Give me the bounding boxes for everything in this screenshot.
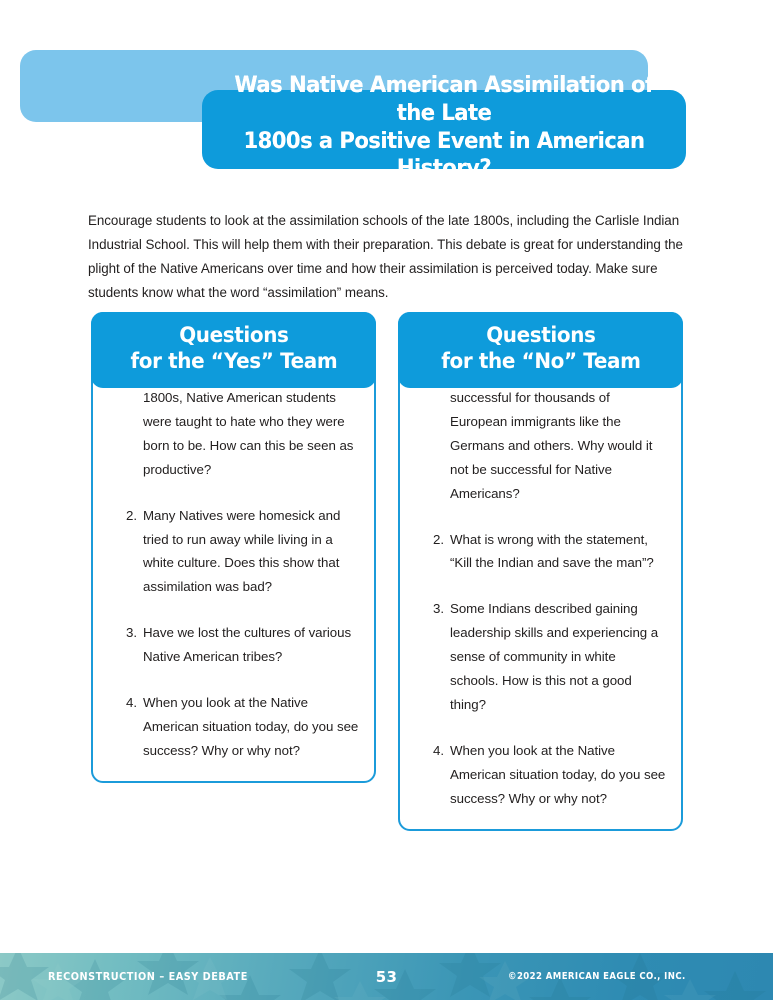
card-yes-team: 1. In assimilation schools of the late 1… [91,312,376,831]
question-number: 4. [113,691,137,715]
question-text: When you look at the Native American sit… [450,743,665,806]
intro-paragraph: Encourage students to look at the assimi… [88,209,688,305]
list-item: 3. Some Indians described gaining leader… [408,597,667,717]
page-title-line-2: 1800s a Positive Event in American Histo… [243,128,644,182]
card-yes-title-line-2: for the “Yes” Team [130,349,337,373]
question-cards-container: 1. In assimilation schools of the late 1… [91,312,683,831]
list-item: 2. What is wrong with the statement, “Ki… [408,528,667,576]
question-number: 2. [113,504,137,528]
list-item: 4. When you look at the Native American … [408,739,667,811]
card-no-team-body: 1. Assimilation seemed to be successful … [398,312,683,831]
worksheet-page: Was Native American Assimilation of the … [0,0,773,1000]
card-no-team: 1. Assimilation seemed to be successful … [398,312,683,831]
question-number: 3. [113,621,137,645]
page-title-line-1: Was Native American Assimilation of the … [234,72,653,126]
question-number: 4. [420,739,444,763]
question-text: Have we lost the cultures of various Nat… [143,625,351,664]
card-yes-title-line-1: Questions [179,323,288,347]
page-header: Was Native American Assimilation of the … [0,0,773,190]
list-item: 3. Have we lost the cultures of various … [101,621,360,669]
header-title-banner: Was Native American Assimilation of the … [202,90,686,169]
card-yes-team-title: Questions for the “Yes” Team [130,323,337,376]
footer-content: RECONSTRUCTION – EASY DEBATE 53 ©2022 AM… [0,953,773,1000]
list-item: 4. When you look at the Native American … [101,691,360,763]
card-yes-team-header: Questions for the “Yes” Team [91,312,376,388]
question-number: 3. [420,597,444,621]
list-item: 2. Many Natives were homesick and tried … [101,504,360,600]
question-list-yes: 1. In assimilation schools of the late 1… [101,362,360,763]
question-number: 2. [420,528,444,552]
page-title: Was Native American Assimilation of the … [230,72,659,184]
page-footer: RECONSTRUCTION – EASY DEBATE 53 ©2022 AM… [0,953,773,1000]
question-text: Many Natives were homesick and tried to … [143,508,340,595]
footer-copyright: ©2022 AMERICAN EAGLE CO., INC. [508,971,686,982]
card-no-team-title: Questions for the “No” Team [441,323,640,376]
question-text: Some Indians described gaining leadershi… [450,601,658,712]
question-text: What is wrong with the statement, “Kill … [450,532,654,571]
card-no-team-header: Questions for the “No” Team [398,312,683,388]
question-text: When you look at the Native American sit… [143,695,358,758]
card-no-title-line-1: Questions [486,323,595,347]
question-list-no: 1. Assimilation seemed to be successful … [408,362,667,811]
card-no-title-line-2: for the “No” Team [441,349,640,373]
